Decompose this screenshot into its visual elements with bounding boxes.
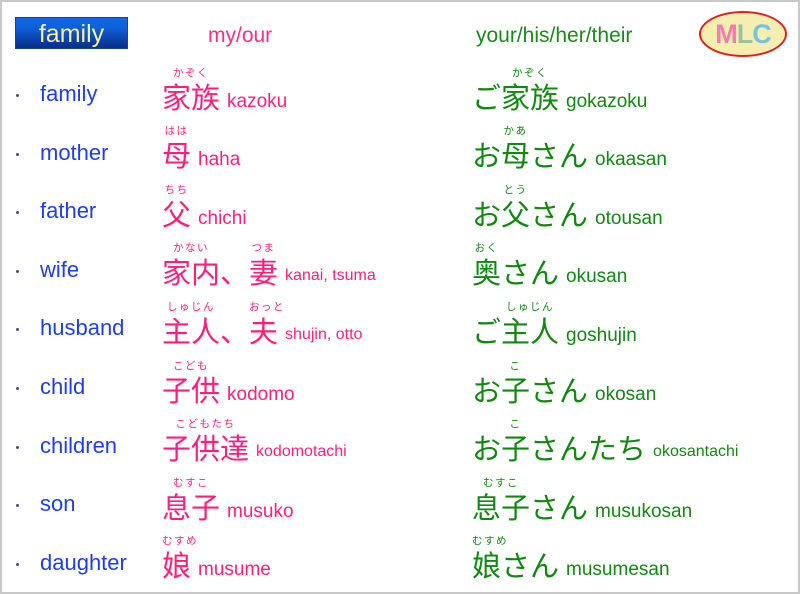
japanese-word-honorific: おこ子さん — [472, 376, 588, 416]
romaji-reading: kanai, tsuma — [278, 265, 376, 298]
logo-letter-m: M — [715, 21, 737, 48]
table-row: familyかぞく家族kazokuごかぞく家族gokazoku — [2, 64, 800, 123]
english-term: family — [40, 81, 97, 107]
kanji-segment: こ子 — [501, 434, 530, 466]
furigana-reading: むすめ — [162, 536, 191, 547]
base-text: ご — [472, 83, 501, 115]
humble-form-cell: こどもたち子供達kodomotachi — [162, 416, 347, 475]
japanese-word-humble: かない家内、つま妻 — [162, 258, 278, 298]
humble-form-cell: むすめ娘musume — [162, 533, 271, 592]
base-text: 娘 — [472, 551, 501, 583]
kanji-segment: しゅじん主人 — [162, 317, 220, 349]
furigana-reading: おっと — [249, 302, 278, 313]
base-text: お — [472, 200, 501, 232]
romaji-reading: musume — [191, 559, 271, 591]
japanese-word-humble: しゅじん主人、おっと夫 — [162, 317, 278, 357]
humble-form-cell: しゅじん主人、おっと夫shujin, otto — [162, 298, 362, 357]
english-term: daughter — [40, 550, 127, 576]
base-text: 主人 — [162, 317, 220, 349]
furigana-reading: かあ — [501, 126, 530, 137]
romaji-reading: okosan — [588, 384, 656, 416]
romaji-reading: musuko — [220, 501, 294, 533]
base-text: 子供達 — [162, 434, 249, 466]
vocabulary-rows: familyかぞく家族kazokuごかぞく家族gokazokumotherはは母… — [2, 64, 800, 591]
japanese-word-humble: かぞく家族 — [162, 83, 220, 123]
kana-segment: ご — [472, 83, 501, 115]
base-text: お — [472, 141, 501, 173]
table-row: daughterむすめ娘musumeむすめ娘さんmusumesan — [2, 533, 800, 592]
kana-segment: お — [472, 141, 501, 173]
romaji-reading: okaasan — [588, 149, 667, 181]
english-term: children — [40, 433, 117, 459]
logo-letter-l: L — [737, 21, 753, 48]
japanese-word-humble: こどもたち子供達 — [162, 434, 249, 474]
honorific-form-cell: ごかぞく家族gokazoku — [472, 64, 647, 123]
bullet-icon — [16, 94, 19, 97]
base-text: 父 — [501, 200, 530, 232]
base-text: 家内 — [162, 258, 220, 290]
furigana-reading: こ — [501, 361, 530, 372]
kana-segment: さん — [501, 551, 559, 583]
furigana-reading: こども — [162, 361, 220, 372]
base-text: 妻 — [249, 258, 278, 290]
honorific-form-cell: おかあ母さんokaasan — [472, 123, 667, 182]
logo-letter-c: C — [752, 21, 771, 48]
romaji-reading: okusan — [559, 266, 627, 298]
kana-segment: さん — [530, 376, 588, 408]
base-text: さん — [501, 258, 559, 290]
romaji-reading: haha — [191, 149, 240, 181]
base-text: 奥 — [472, 258, 501, 290]
japanese-word-humble: はは母 — [162, 141, 191, 181]
humble-form-cell: かない家内、つま妻kanai, tsuma — [162, 240, 376, 299]
base-text: 息子 — [162, 493, 220, 525]
japanese-word-honorific: おく奥さん — [472, 258, 559, 298]
humble-form-cell: ちち父chichi — [162, 181, 247, 240]
bullet-icon — [16, 387, 19, 390]
kanji-segment: かない家内 — [162, 258, 220, 290]
furigana-reading: しゅじん — [501, 302, 559, 313]
logo-letters: MLC — [699, 11, 787, 57]
kanji-segment: こどもたち子供達 — [162, 434, 249, 466]
kana-segment: ご — [472, 317, 501, 349]
honorific-form-cell: おく奥さんokusan — [472, 240, 627, 299]
romaji-reading: shujin, otto — [278, 324, 362, 357]
humble-form-cell: かぞく家族kazoku — [162, 64, 287, 123]
kana-segment: さん — [501, 258, 559, 290]
honorific-form-cell: むすめ娘さんmusumesan — [472, 533, 670, 592]
furigana-reading: むすめ — [472, 536, 501, 547]
base-text: ご — [472, 317, 501, 349]
kana-segment: さん — [530, 141, 588, 173]
base-text: さん — [501, 551, 559, 583]
bullet-icon — [16, 153, 19, 156]
column-header-your-his-her-their: your/his/her/their — [476, 24, 632, 48]
table-row: wifeかない家内、つま妻kanai, tsumaおく奥さんokusan — [2, 240, 800, 299]
base-text: 、 — [220, 317, 249, 349]
base-text: 家族 — [162, 83, 220, 115]
furigana-reading: むすこ — [472, 478, 530, 489]
japanese-word-honorific: おこ子さんたち — [472, 434, 646, 474]
japanese-word-honorific: むすめ娘さん — [472, 551, 559, 591]
kanji-segment: おく奥 — [472, 258, 501, 290]
table-row: sonむすこ息子musukoむすこ息子さんmusukosan — [2, 474, 800, 533]
bullet-icon — [16, 563, 19, 566]
english-term: father — [40, 198, 96, 224]
kana-segment: お — [472, 200, 501, 232]
romaji-reading: gokazoku — [559, 91, 647, 123]
kana-segment: お — [472, 434, 501, 466]
base-text: さん — [530, 493, 588, 525]
english-term: husband — [40, 315, 124, 341]
table-row: childrenこどもたち子供達kodomotachiおこ子さんたちokosan… — [2, 416, 800, 475]
furigana-reading: むすこ — [162, 478, 220, 489]
base-text: 子 — [501, 376, 530, 408]
column-header-my-our: my/our — [208, 24, 272, 48]
kana-segment: さん — [530, 200, 588, 232]
kana-segment: 、 — [220, 258, 249, 290]
bullet-icon — [16, 270, 19, 273]
furigana-reading: かぞく — [162, 68, 220, 79]
furigana-reading: こどもたち — [162, 419, 249, 430]
japanese-word-honorific: おかあ母さん — [472, 141, 588, 181]
kana-segment: さんたち — [530, 434, 646, 466]
romaji-reading: chichi — [191, 208, 247, 240]
base-text: さん — [530, 376, 588, 408]
kanji-segment: むすこ息子 — [472, 493, 530, 525]
furigana-reading: こ — [501, 419, 530, 430]
honorific-form-cell: おこ子さんたちokosantachi — [472, 416, 738, 475]
english-term: wife — [40, 257, 79, 283]
table-row: childこども子供kodomoおこ子さんokosan — [2, 357, 800, 416]
kanji-segment: かあ母 — [501, 141, 530, 173]
kanji-segment: かぞく家族 — [162, 83, 220, 115]
kana-segment: さん — [530, 493, 588, 525]
japanese-word-humble: ちち父 — [162, 200, 191, 240]
base-text: 息子 — [472, 493, 530, 525]
kanji-segment: しゅじん主人 — [501, 317, 559, 349]
furigana-reading: はは — [162, 126, 191, 137]
romaji-reading: okosantachi — [646, 441, 738, 474]
base-text: 娘 — [162, 551, 191, 583]
romaji-reading: kodomotachi — [249, 441, 347, 474]
furigana-reading: とう — [501, 185, 530, 196]
kanji-segment: こ子 — [501, 376, 530, 408]
table-row: husbandしゅじん主人、おっと夫shujin, ottoごしゅじん主人gos… — [2, 298, 800, 357]
kanji-segment: ちち父 — [162, 200, 191, 232]
base-text: 子 — [501, 434, 530, 466]
base-text: 家族 — [501, 83, 559, 115]
kanji-segment: こども子供 — [162, 376, 220, 408]
furigana-reading: かぞく — [501, 68, 559, 79]
kana-segment: お — [472, 376, 501, 408]
romaji-reading: otousan — [588, 208, 663, 240]
base-text: お — [472, 434, 501, 466]
kanji-segment: むすめ娘 — [472, 551, 501, 583]
english-term: son — [40, 491, 75, 517]
title-badge: family — [15, 17, 128, 49]
table-row: fatherちち父chichiおとう父さんotousan — [2, 181, 800, 240]
base-text: 母 — [162, 141, 191, 173]
japanese-word-humble: こども子供 — [162, 376, 220, 416]
base-text: さん — [530, 141, 588, 173]
kanji-segment: むすめ娘 — [162, 551, 191, 583]
furigana-reading: つま — [249, 243, 278, 254]
honorific-form-cell: ごしゅじん主人goshujin — [472, 298, 637, 357]
japanese-word-honorific: おとう父さん — [472, 200, 588, 240]
english-term: mother — [40, 140, 108, 166]
bullet-icon — [16, 446, 19, 449]
vocabulary-slide: family my/our your/his/her/their MLC fam… — [0, 0, 800, 594]
kanji-segment: とう父 — [501, 200, 530, 232]
romaji-reading: goshujin — [559, 325, 637, 357]
kana-segment: 、 — [220, 317, 249, 349]
bullet-icon — [16, 328, 19, 331]
furigana-reading: しゅじん — [162, 302, 220, 313]
base-text: 子供 — [162, 376, 220, 408]
mlc-logo: MLC — [699, 11, 787, 57]
kanji-segment: むすこ息子 — [162, 493, 220, 525]
furigana-reading: かない — [162, 243, 220, 254]
humble-form-cell: こども子供kodomo — [162, 357, 295, 416]
honorific-form-cell: おとう父さんotousan — [472, 181, 663, 240]
base-text: 主人 — [501, 317, 559, 349]
table-row: motherはは母hahaおかあ母さんokaasan — [2, 123, 800, 182]
kanji-segment: つま妻 — [249, 258, 278, 290]
furigana-reading: おく — [472, 243, 501, 254]
honorific-form-cell: むすこ息子さんmusukosan — [472, 474, 692, 533]
bullet-icon — [16, 504, 19, 507]
humble-form-cell: はは母haha — [162, 123, 240, 182]
japanese-word-honorific: むすこ息子さん — [472, 493, 588, 533]
base-text: さんたち — [530, 434, 646, 466]
base-text: 夫 — [249, 317, 278, 349]
kanji-segment: かぞく家族 — [501, 83, 559, 115]
base-text: 、 — [220, 258, 249, 290]
japanese-word-honorific: ごしゅじん主人 — [472, 317, 559, 357]
romaji-reading: kodomo — [220, 384, 295, 416]
furigana-reading: ちち — [162, 185, 191, 196]
kanji-segment: はは母 — [162, 141, 191, 173]
base-text: 父 — [162, 200, 191, 232]
romaji-reading: musukosan — [588, 501, 692, 533]
japanese-word-humble: むすこ息子 — [162, 493, 220, 533]
japanese-word-honorific: ごかぞく家族 — [472, 83, 559, 123]
base-text: さん — [530, 200, 588, 232]
english-term: child — [40, 374, 85, 400]
humble-form-cell: むすこ息子musuko — [162, 474, 294, 533]
japanese-word-humble: むすめ娘 — [162, 551, 191, 591]
kanji-segment: おっと夫 — [249, 317, 278, 349]
base-text: 母 — [501, 141, 530, 173]
base-text: お — [472, 376, 501, 408]
romaji-reading: musumesan — [559, 559, 670, 591]
bullet-icon — [16, 211, 19, 214]
honorific-form-cell: おこ子さんokosan — [472, 357, 656, 416]
romaji-reading: kazoku — [220, 91, 287, 123]
